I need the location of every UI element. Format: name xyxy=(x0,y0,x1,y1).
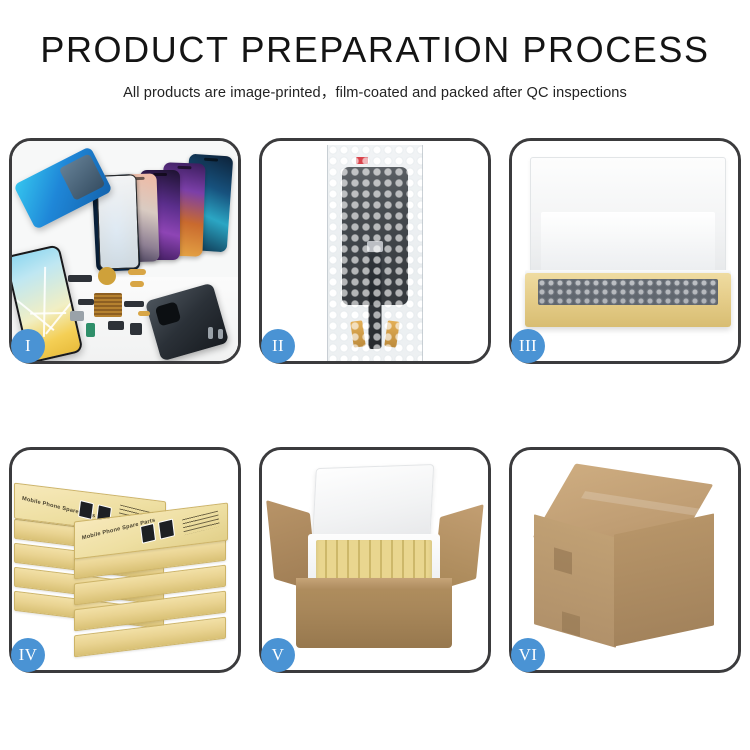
spare-part-screw xyxy=(218,329,223,339)
step-6-photo xyxy=(512,450,738,670)
box-artwork-thumb xyxy=(140,523,156,544)
screen-connector xyxy=(367,241,383,252)
box-artwork-thumb xyxy=(158,518,175,539)
process-step-panel-5: V xyxy=(259,447,491,673)
step-badge-4: IV xyxy=(11,638,45,672)
step-badge-1: I xyxy=(11,329,45,363)
page-title: PRODUCT PREPARATION PROCESS xyxy=(0,30,750,70)
spare-part-speaker xyxy=(98,267,116,285)
spare-part-flex-cable xyxy=(130,281,144,287)
step-badge-3: III xyxy=(511,329,545,363)
step-5-photo xyxy=(262,450,488,670)
process-step-panel-4: Mobile Phone Spare Parts Mobile Phone Sp… xyxy=(9,447,241,673)
screen-flex-cable xyxy=(369,253,382,349)
sealed-carton xyxy=(532,474,724,644)
bubble-wrapped-contents xyxy=(538,279,718,305)
box-artwork-thumb xyxy=(78,500,94,520)
flex-tab-left xyxy=(350,320,366,347)
spare-part-chip-array xyxy=(94,293,122,317)
flex-tab-right xyxy=(384,320,400,347)
phone-notch-icon xyxy=(177,166,191,169)
step-badge-5: V xyxy=(261,638,295,672)
carton-face-right xyxy=(614,513,714,646)
step-4-photo: Mobile Phone Spare Parts Mobile Phone Sp… xyxy=(12,450,238,670)
spare-part-bracket xyxy=(70,311,84,321)
spare-part-flex-cable xyxy=(138,311,150,316)
box-spec-lines xyxy=(182,511,220,535)
spare-part-screw xyxy=(208,327,213,339)
step-1-photo xyxy=(12,141,238,361)
crack-line xyxy=(45,302,71,334)
spare-part-camera-module xyxy=(108,321,124,330)
qc-sticker xyxy=(356,157,368,164)
step-badge-6: VI xyxy=(511,638,545,672)
spare-part-button-flex xyxy=(124,301,144,307)
process-step-panel-6: VI xyxy=(509,447,741,673)
process-step-panel-3: III xyxy=(509,138,741,364)
carton-front-edge xyxy=(296,578,452,590)
crack-line xyxy=(43,267,46,337)
spare-part-flex-cable xyxy=(128,269,146,275)
gold-box-stack: Mobile Phone Spare Parts Mobile Phone Sp… xyxy=(12,450,238,670)
spare-part-connector xyxy=(68,275,92,282)
bubble-wrap-bag xyxy=(327,145,423,361)
product-preparation-infographic: PRODUCT PREPARATION PROCESS All products… xyxy=(0,0,750,750)
step-3-photo xyxy=(512,141,738,361)
process-step-panel-1: I xyxy=(9,138,241,364)
process-step-panel-2: II xyxy=(259,138,491,364)
spare-part-battery-cell xyxy=(86,323,95,337)
header: PRODUCT PREPARATION PROCESS All products… xyxy=(0,30,750,102)
crack-line xyxy=(16,300,54,331)
step-badge-2: II xyxy=(261,329,295,363)
spare-part-button-flex xyxy=(78,299,94,305)
phone-notch-icon xyxy=(204,158,218,162)
page-subtitle: All products are image-printed，film-coat… xyxy=(0,81,750,102)
process-step-grid: I II xyxy=(9,138,742,673)
spare-part-vibrator xyxy=(130,323,142,335)
box-lid-open xyxy=(530,157,726,279)
step-2-photo xyxy=(262,141,488,361)
gold-box-base xyxy=(525,273,731,327)
